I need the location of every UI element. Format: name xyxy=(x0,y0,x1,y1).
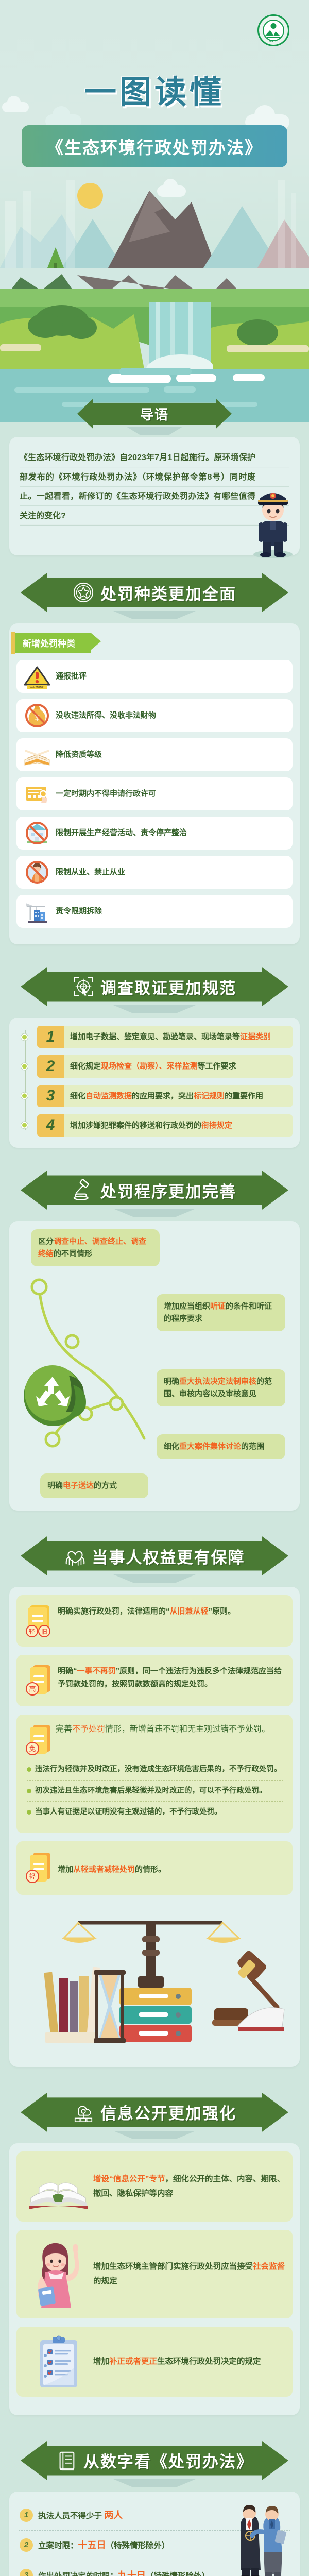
list-item: ¥ 没收违法所得、没收非法财物 xyxy=(16,699,293,732)
procedure-card: 区分调查中止、调查终止、调查终结的不同情形 增加应当组织听证的条件和听证的程序要… xyxy=(9,1221,300,1511)
list-item: 4 增加涉嫌犯罪案件的移送和行政处罚的衔接规定 xyxy=(37,1114,293,1137)
target-scan-icon xyxy=(73,976,94,997)
intro-card: 《生态环境行政处罚办法》自2023年7月1日起施行。原环境保护部发布的《环境行政… xyxy=(9,437,300,555)
disclosure-card: 增设“信息公开”专节，细化公开的主体、内容、期限、撤回、隐私保护等内容 xyxy=(9,2143,300,2415)
text-part: 的方式 xyxy=(94,1481,117,1490)
list-item-text: 完善不予处罚情形，新增首违不罚和无主观过错不予处罚。 xyxy=(56,1722,270,1734)
highlight-part: 证据类别 xyxy=(240,1032,271,1041)
text-part: 明确实施行政处罚，法律适用的“ xyxy=(58,1607,170,1616)
star-medal-icon xyxy=(73,582,94,603)
list-item-text: 明确“一事不再罚”原则，同一个违法行为违反多个法律规范应当给予罚款处罚的，按照罚… xyxy=(58,1662,285,1691)
eco-recycle-icon xyxy=(22,1358,94,1430)
text-part: 增加 xyxy=(58,1865,73,1874)
text-part: 等工作要求 xyxy=(198,1062,236,1071)
list-item-label: 责令限期拆除 xyxy=(56,906,102,917)
hero-section: MEE 一图读懂 《生态环境行政处罚办法》 xyxy=(0,0,309,268)
open-book-illustration xyxy=(24,2160,93,2213)
list-item: 责令限期拆除 xyxy=(16,895,293,928)
list-item-number: 2 xyxy=(37,1055,64,1077)
text-part: 的不同情形 xyxy=(54,1249,92,1258)
mee-emblem-icon: MEE xyxy=(257,14,289,46)
list-item-label: 没收违法所得、没收非法财物 xyxy=(56,710,156,721)
highlight-part: 一事不再罚 xyxy=(77,1667,116,1675)
list-item: 1 增加电子数据、鉴定意见、勘验笔录、现场笔录等证据类别 xyxy=(37,1026,293,1048)
list-item-text: 细化自动监测数据的应用要求，突出标记规则的重要作用 xyxy=(64,1085,293,1107)
evidence-section: 调查取证更加规范 1 增加电子数据、鉴定意见、勘验笔录、现场笔录等证据类别 2 xyxy=(0,965,309,1148)
highlight-part: 重大案件集体讨论 xyxy=(179,1442,241,1451)
list-item-label: 违法行为轻微并及时改正，没有造成生态环境危害后果的，不予行政处罚。 xyxy=(35,1763,282,1776)
infographic-page: MEE 一图读懂 《生态环境行政处罚办法》 xyxy=(0,0,309,2576)
numbers-section: 从数字看《处罚办法》 xyxy=(0,2439,309,2576)
text-part: 增加生态环境主管部门实施行政处罚应当接受 xyxy=(93,2262,253,2271)
bullet-dot xyxy=(27,1789,35,1798)
evidence-banner: 调查取证更加规范 xyxy=(21,965,288,1008)
list-item-text: 明确实施行政处罚，法律适用的“从旧兼从轻”原则。 xyxy=(58,1602,285,1618)
list-item-text: 增设“信息公开”专节，细化公开的主体、内容、期限、撤回、隐私保护等内容 xyxy=(93,2172,285,2201)
badge-char: 高 xyxy=(29,1685,36,1693)
procedure-diagram: 区分调查中止、调查终止、调查终结的不同情形 增加应当组织听证的条件和听证的程序要… xyxy=(16,1229,293,1497)
list-item: 轻 旧 明确实施行政处罚，法律适用的“从旧兼从轻”原则。 xyxy=(16,1595,293,1647)
svg-text:WARNING: WARNING xyxy=(30,686,45,689)
list-item-text: 细化规定现场检查（勘察）、采样监测等工作要求 xyxy=(64,1055,293,1077)
rights-banner-label: 当事人权益更有保障 xyxy=(92,1545,245,1568)
mountain-scenery xyxy=(0,170,309,268)
timeline-dot xyxy=(21,1093,28,1099)
list-item-text: 增加生态环境主管部门实施行政处罚应当接受社会监督的规定 xyxy=(93,2260,285,2289)
highlight-part: 增设“信息公开”专节 xyxy=(93,2175,165,2183)
timeline-dot xyxy=(21,1063,28,1070)
list-item-label: 限制从业、禁止从业 xyxy=(56,867,125,877)
text-part: ”原则。 xyxy=(209,1607,236,1616)
hands-heart-icon xyxy=(64,1545,86,1567)
list-item: 高 明确“一事不再罚”原则，同一个违法行为违反多个法律规范应当给予罚款处罚的，按… xyxy=(16,1655,293,1706)
list-item-label: 降低资质等级 xyxy=(56,750,102,760)
doc-badge-icon: 高 xyxy=(24,1662,56,1699)
text-part: 的情形。 xyxy=(135,1865,166,1874)
evidence-list: 1 增加电子数据、鉴定意见、勘验笔录、现场笔录等证据类别 2 细化规定现场检查（… xyxy=(16,1026,293,1137)
highlight-part: 听证 xyxy=(210,1302,226,1311)
badge-char-1: 轻 xyxy=(29,1628,35,1635)
highlight-part: 两人 xyxy=(104,2510,123,2520)
procedure-bubble: 区分调查中止、调查终止、调查终结的不同情形 xyxy=(31,1229,160,1266)
text-part: 作出处罚决定的时限： xyxy=(38,2572,118,2576)
disclosure-banner: 信息公开更加强化 xyxy=(21,2091,288,2134)
penalty-types-banner: 处罚种类更加全面 xyxy=(21,571,288,614)
numbers-card: 1 执法人员不得少于 两人 2 立案时限：十五日（特殊情形除外） 3 作出处罚决… xyxy=(9,2492,300,2576)
highlight-part: 电子送达 xyxy=(63,1481,94,1490)
woman-pointing-illustration xyxy=(24,2238,93,2310)
text-part: 区分 xyxy=(38,1237,54,1246)
bullet-dot xyxy=(27,1767,35,1776)
page-subtitle-banner: 《生态环境行政处罚办法》 xyxy=(22,125,287,167)
banner-shadow xyxy=(113,1005,196,1013)
list-item-text: 增加电子数据、鉴定意见、勘验笔录、现场笔录等证据类别 xyxy=(64,1026,293,1048)
banner-shadow xyxy=(113,1209,196,1217)
highlight-part: 十五日 xyxy=(78,2540,106,2550)
evidence-card: 1 增加电子数据、鉴定意见、勘验笔录、现场笔录等证据类别 2 细化规定现场检查（… xyxy=(9,1018,300,1148)
disclosure-section: 信息公开更加强化 增设“信息公开”专节，细化公开的主 xyxy=(0,2091,309,2415)
warning-triangle-icon: WARNING xyxy=(23,664,51,689)
book-list-icon xyxy=(56,2450,77,2471)
highlight-part: 标记规则 xyxy=(194,1092,225,1100)
list-item: 增加生态环境主管部门实施行政处罚应当接受社会监督的规定 xyxy=(16,2230,293,2318)
list-item: 一定时期内不得申请行政许可 xyxy=(16,777,293,810)
list-item: WARNING 通报批评 xyxy=(16,660,293,693)
text-part: 增加应当组织 xyxy=(164,1302,210,1311)
penalty-types-card: 新增处罚种类 WARNING 通报批评 xyxy=(9,623,300,944)
disclosure-banner-label: 信息公开更加强化 xyxy=(100,2100,236,2124)
list-item-label: 初次违法且生态环境危害后果轻微并及时改正的，可以不予行政处罚。 xyxy=(35,1785,267,1798)
crane-demolition-icon xyxy=(23,899,51,924)
list-item: 3 细化自动监测数据的应用要求，突出标记规则的重要作用 xyxy=(37,1085,293,1107)
list-item-label: 一定时期内不得申请行政许可 xyxy=(56,789,156,799)
list-item: 2 细化规定现场检查（勘察）、采样监测等工作要求 xyxy=(37,1055,293,1077)
highlight-part: 从轻或者减轻处罚 xyxy=(73,1865,135,1874)
list-item-number: 4 xyxy=(37,1114,64,1137)
license-card-icon xyxy=(23,782,51,806)
procedure-banner: 处罚程序更加完善 xyxy=(21,1168,288,1212)
text-part: 完善 xyxy=(56,1725,72,1734)
intro-banner: 导语 xyxy=(77,398,232,430)
text-part: 增加涉嫌犯罪案件的移送和行政处罚的 xyxy=(70,1121,201,1130)
text-part: 明确 xyxy=(47,1481,63,1490)
evidence-banner-label: 调查取证更加规范 xyxy=(100,975,236,998)
list-item: 增设“信息公开”专节，细化公开的主体、内容、期限、撤回、隐私保护等内容 xyxy=(16,2151,293,2222)
text-part: 执法人员不得少于 xyxy=(38,2512,104,2520)
doc-badge-icon: 轻 旧 xyxy=(24,1602,56,1639)
intro-banner-label: 导语 xyxy=(140,404,169,423)
highlight-part: 社会监督 xyxy=(253,2262,285,2271)
list-item-text: 增加从轻或者减轻处罚的情形。 xyxy=(58,1860,285,1876)
list-item-label: 当事人有证据足以证明没有主观过错的，不予行政处罚。 xyxy=(35,1806,222,1819)
procedure-bubble: 细化重大案件集体讨论的范围 xyxy=(157,1434,285,1459)
procedure-banner-label: 处罚程序更加完善 xyxy=(100,1179,236,1202)
doc-badge-icon: 免 xyxy=(24,1722,56,1759)
list-item: 当事人有证据足以证明没有主观过错的，不予行政处罚。 xyxy=(27,1801,283,1823)
badge-char: 轻 xyxy=(29,1873,36,1880)
list-item: 轻 增加从轻或者减轻处罚的情形。 xyxy=(16,1841,293,1895)
timeline-dot xyxy=(21,1122,28,1129)
text-part: 细化 xyxy=(164,1442,179,1451)
officer-illustration xyxy=(249,481,297,558)
list-item-number: 1 xyxy=(20,2509,33,2522)
no-factory-icon xyxy=(23,821,51,845)
penalty-types-banner-label: 处罚种类更加全面 xyxy=(100,581,236,604)
page-title: 一图读懂 xyxy=(0,66,309,112)
procedure-bubble: 增加应当组织听证的条件和听证的程序要求 xyxy=(157,1294,285,1331)
badge-char: 免 xyxy=(29,1745,36,1753)
highlight-part: 九十日 xyxy=(118,2570,146,2576)
list-item: 初次违法且生态环境危害后果轻微并及时改正的，可以不予行政处罚。 xyxy=(27,1780,283,1802)
highlight-part: 现场检查（勘察）、采样监测 xyxy=(101,1062,198,1071)
doc-badge-icon: 轻 xyxy=(24,1850,56,1887)
two-officials-illustration xyxy=(232,2502,294,2576)
list-item-number: 1 xyxy=(37,1026,64,1048)
banner-shadow xyxy=(126,427,183,435)
banner-shadow xyxy=(113,611,196,619)
highlight-part: 从旧兼从轻 xyxy=(170,1607,209,1616)
highlight-part: 不予处罚 xyxy=(72,1725,105,1734)
list-item: 降低资质等级 xyxy=(16,738,293,771)
text-part: 立案时限： xyxy=(38,2541,78,2550)
list-item-number: 3 xyxy=(37,1085,64,1107)
no-penalty-block: 免 完善不予处罚情形，新增首违不罚和无主观过错不予处罚。 违法行为轻微并及时改正… xyxy=(16,1715,293,1833)
list-item-text: 增加涉嫌犯罪案件的移送和行政处罚的衔接规定 xyxy=(64,1114,293,1137)
procedure-section: 处罚程序更加完善 xyxy=(0,1168,309,1511)
list-item-number: 2 xyxy=(20,2538,33,2552)
text-part: 明确 xyxy=(164,1377,179,1386)
text-part: 情形，新增首违不罚和无主观过错不予处罚。 xyxy=(105,1725,270,1734)
text-part: （特殊情形除外） xyxy=(146,2572,210,2576)
text-part: 的规定 xyxy=(93,2277,117,2285)
open-book-icon xyxy=(23,742,51,767)
text-part: 细化规定 xyxy=(70,1062,101,1071)
text-part: 的应用要求，突出 xyxy=(132,1092,194,1100)
text-part: 的重要作用 xyxy=(225,1092,263,1100)
numbers-banner-label: 从数字看《处罚办法》 xyxy=(83,2449,253,2472)
no-worker-icon xyxy=(23,860,51,885)
list-item-label: 通报批评 xyxy=(56,671,87,682)
text-part: 增加电子数据、鉴定意见、勘验笔录、现场笔录等 xyxy=(70,1032,240,1041)
rights-section: 当事人权益更有保障 轻 旧 明 xyxy=(0,1534,309,2067)
badge-char-2: 旧 xyxy=(41,1628,47,1635)
list-item-number: 3 xyxy=(20,2569,33,2576)
text-part: （特殊情形除外） xyxy=(106,2541,170,2550)
numbers-banner: 从数字看《处罚办法》 xyxy=(21,2439,288,2482)
list-item: 增加补正或者更正生态环境行政处罚决定的规定 xyxy=(16,2327,293,2397)
list-item: 违法行为轻微并及时改正，没有造成生态环境危害后果的，不予行政处罚。 xyxy=(27,1759,283,1780)
rights-banner: 当事人权益更有保障 xyxy=(21,1534,288,1578)
highlight-part: 自动监测数据 xyxy=(85,1092,132,1100)
text-part: 增加 xyxy=(93,2357,109,2366)
text-part: 明确“ xyxy=(58,1667,77,1675)
bullet-dot xyxy=(27,1810,35,1819)
text-part: 的范围 xyxy=(241,1442,264,1451)
list-item-text: 增加补正或者更正生态环境行政处罚决定的规定 xyxy=(93,2354,285,2369)
page-subtitle: 《生态环境行政处罚办法》 xyxy=(46,134,263,159)
no-money-bag-icon: ¥ xyxy=(23,703,51,728)
list-item-label: 限制开展生产经营活动、责令停产整治 xyxy=(56,828,187,838)
no-penalty-sublist: 违法行为轻微并及时改正，没有造成生态环境危害后果的，不予行政处罚。 初次违法且生… xyxy=(24,1759,285,1826)
clipboard-checklist-illustration xyxy=(24,2335,93,2388)
highlight-part: 补正或者更正 xyxy=(109,2357,157,2366)
emblem-text: MEE xyxy=(259,40,288,43)
rights-card: 轻 旧 明确实施行政处罚，法律适用的“从旧兼从轻”原则。 xyxy=(9,1587,300,2067)
banner-shadow xyxy=(113,2479,196,2487)
banner-shadow xyxy=(113,2131,196,2139)
gavel-icon xyxy=(73,1179,94,1201)
intro-section: 导语 《生态环境行政处罚办法》自2023年7月1日起施行。原环境保护部发布的《环… xyxy=(0,398,309,555)
highlight-part: 衔接规定 xyxy=(201,1121,232,1130)
new-penalty-tag: 新增处罚种类 xyxy=(15,633,91,653)
penalty-types-section: 处罚种类更加全面 新增处罚种类 WARNING 通报批评 xyxy=(0,571,309,944)
text-part: 生态环境行政处罚决定的规定 xyxy=(157,2357,261,2366)
timeline-spine xyxy=(25,1030,26,1130)
list-item: 限制开展生产经营活动、责令停产整治 xyxy=(16,817,293,850)
scales-books-gavel-illustration xyxy=(16,1903,293,2057)
procedure-bubble: 明确电子送达的方式 xyxy=(40,1473,148,1498)
procedure-bubble: 明确重大执法决定法制审核的范围、审核内容以及审核意见 xyxy=(157,1369,285,1406)
cloud-network-icon xyxy=(73,2102,94,2123)
text-part: 细化 xyxy=(70,1092,85,1100)
banner-shadow xyxy=(113,1574,196,1583)
highlight-part: 重大执法决定法制审核 xyxy=(179,1377,256,1386)
list-item: 限制从业、禁止从业 xyxy=(16,856,293,889)
timeline-dot xyxy=(21,1033,28,1040)
